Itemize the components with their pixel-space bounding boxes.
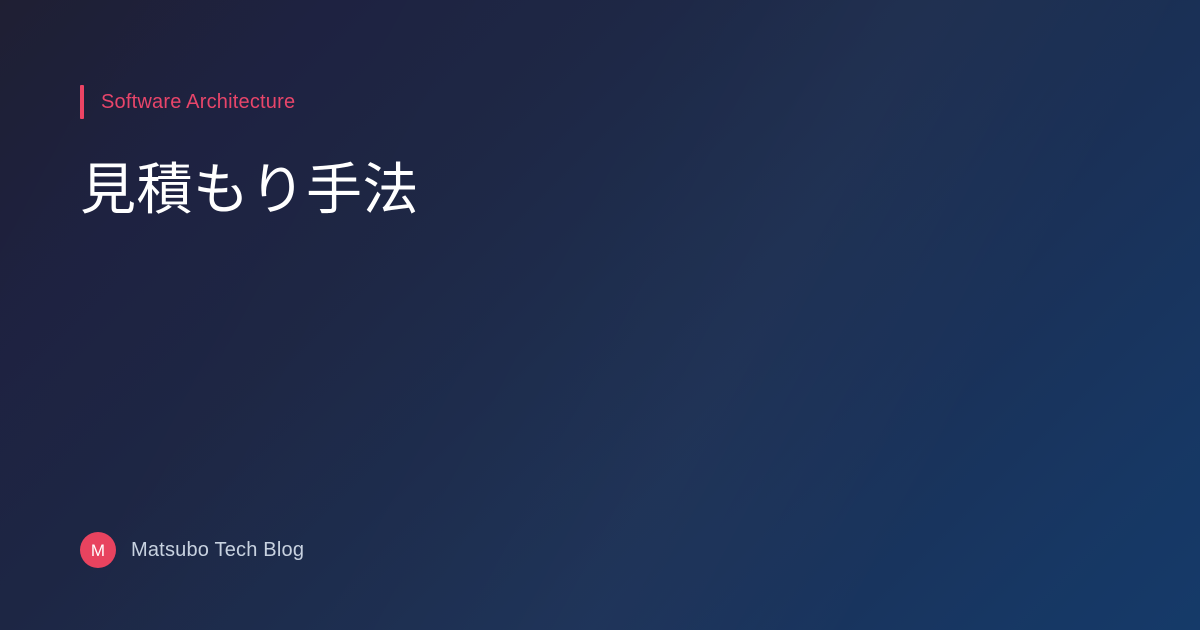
card-content: Software Architecture 見積もり手法 bbox=[0, 0, 1200, 630]
category-label: Software Architecture bbox=[101, 92, 295, 112]
category-row: Software Architecture bbox=[80, 84, 1120, 120]
og-card: Software Architecture 見積もり手法 M Matsubo T… bbox=[0, 0, 1200, 630]
category-accent-bar bbox=[80, 85, 84, 119]
page-title: 見積もり手法 bbox=[80, 154, 980, 226]
